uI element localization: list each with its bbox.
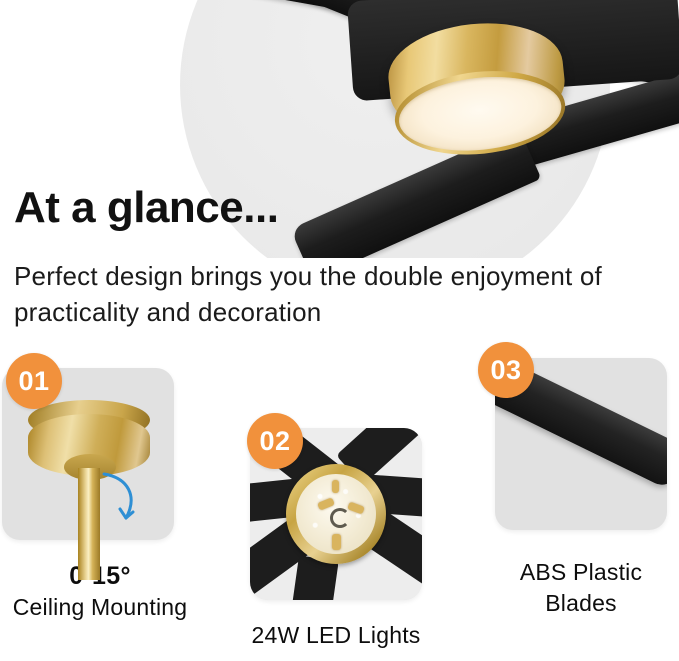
feature-caption-02-secondary: 24W LED Lights — [236, 620, 436, 651]
feature-caption-03: ABS Plastic Blades — [486, 557, 676, 619]
led-chip — [347, 502, 365, 515]
page-title: At a glance... — [14, 183, 278, 233]
led-center-mark — [330, 508, 350, 528]
feature-caption-03-secondary: ABS Plastic Blades — [486, 557, 676, 619]
feature-caption-01-secondary: Ceiling Mounting — [0, 592, 200, 623]
led-gold-ring — [286, 464, 386, 564]
feature-caption-02: 24W LED Lights — [236, 620, 436, 651]
infographic-page: At a glance... Perfect design brings you… — [0, 0, 679, 661]
feature-caption-01-primary: 0-15° — [0, 560, 200, 592]
led-chip — [332, 480, 339, 493]
led-diffuser-face — [296, 474, 376, 554]
page-subtitle: Perfect design brings you the double enj… — [14, 258, 614, 330]
led-chip — [317, 497, 335, 510]
feature-badge-02: 02 — [247, 413, 303, 469]
feature-badge-03: 03 — [478, 342, 534, 398]
feature-badge-01: 01 — [6, 353, 62, 409]
led-chip — [332, 534, 341, 550]
feature-caption-01: 0-15° Ceiling Mounting — [0, 560, 200, 623]
tilt-arrow-icon — [94, 468, 158, 532]
downrod — [78, 468, 100, 580]
